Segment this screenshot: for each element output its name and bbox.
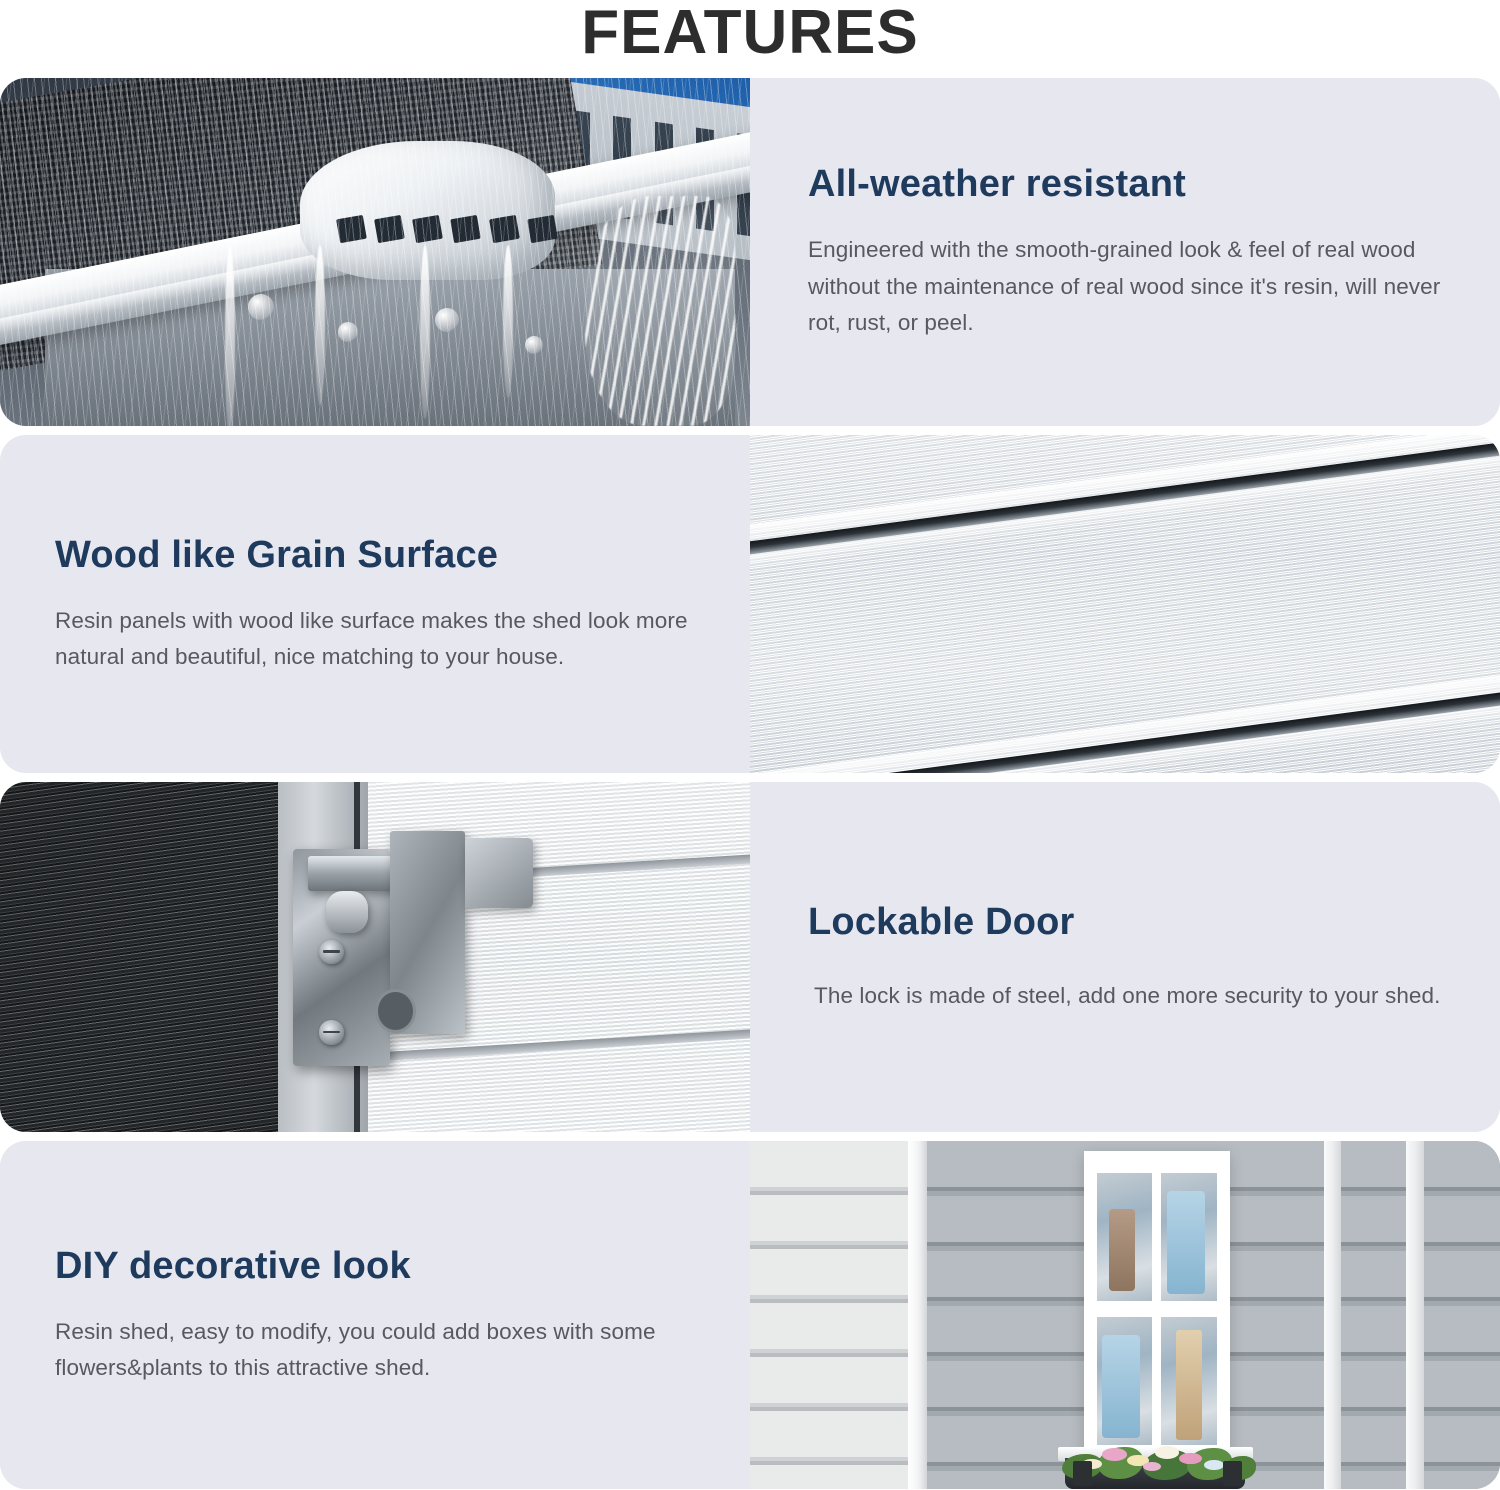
rain-gutter-photo (0, 78, 750, 426)
latch-hook (465, 838, 533, 908)
feature-title: Wood like Grain Surface (55, 533, 690, 577)
window-pane (1097, 1173, 1153, 1302)
window-pane (1161, 1317, 1217, 1446)
left-wall-siding (750, 1141, 908, 1489)
flower-box-bracket (1073, 1461, 1092, 1485)
feature-title: DIY decorative look (55, 1244, 690, 1288)
feature-image-wood-like-grain-surface (750, 435, 1500, 773)
feature-image-all-weather-resistant (0, 78, 750, 426)
feature-title: Lockable Door (808, 900, 1448, 944)
window-pane (1161, 1173, 1217, 1302)
feature-title: All-weather resistant (808, 162, 1448, 206)
feature-card-all-weather-resistant: All-weather resistant Engineered with th… (0, 78, 1500, 426)
feature-image-diy-decorative-look (750, 1141, 1500, 1489)
features-list: All-weather resistant Engineered with th… (0, 78, 1500, 1489)
wood-grain-panel-photo (750, 435, 1500, 773)
feature-card-diy-decorative-look: DIY decorative look Resin shed, easy to … (0, 1141, 1500, 1489)
feature-card-wood-like-grain-surface: Wood like Grain Surface Resin panels wit… (0, 435, 1500, 773)
feature-text-lockable-door: Lockable Door The lock is made of steel,… (750, 782, 1500, 1132)
latch-screw (319, 1020, 345, 1045)
padlock-hole (375, 989, 416, 1034)
shed-window (1084, 1151, 1230, 1457)
latch-screw (319, 940, 345, 965)
flower-box-bracket (1223, 1461, 1242, 1485)
feature-text-diy-decorative-look: DIY decorative look Resin shed, easy to … (0, 1141, 750, 1489)
dark-door-panel (0, 782, 278, 1132)
page-title: FEATURES (0, 0, 1500, 78)
feature-text-all-weather-resistant: All-weather resistant Engineered with th… (750, 78, 1500, 426)
latch-pin (326, 891, 367, 933)
feature-description: Resin panels with wood like surface make… (55, 603, 690, 676)
vertical-trim (1324, 1141, 1341, 1489)
door-latch-photo (0, 782, 750, 1132)
feature-description: Engineered with the smooth-grained look … (808, 232, 1448, 341)
feature-description: Resin shed, easy to modify, you could ad… (55, 1314, 690, 1387)
feature-image-lockable-door (0, 782, 750, 1132)
vertical-trim (1406, 1141, 1423, 1489)
feature-description: The lock is made of steel, add one more … (808, 978, 1448, 1014)
feature-text-wood-like-grain-surface: Wood like Grain Surface Resin panels wit… (0, 435, 750, 773)
shed-window-photo (750, 1141, 1500, 1489)
rain-spray-overlay (0, 78, 750, 426)
corner-trim (908, 1141, 927, 1489)
feature-card-lockable-door: Lockable Door The lock is made of steel,… (0, 782, 1500, 1132)
window-pane (1097, 1317, 1153, 1446)
